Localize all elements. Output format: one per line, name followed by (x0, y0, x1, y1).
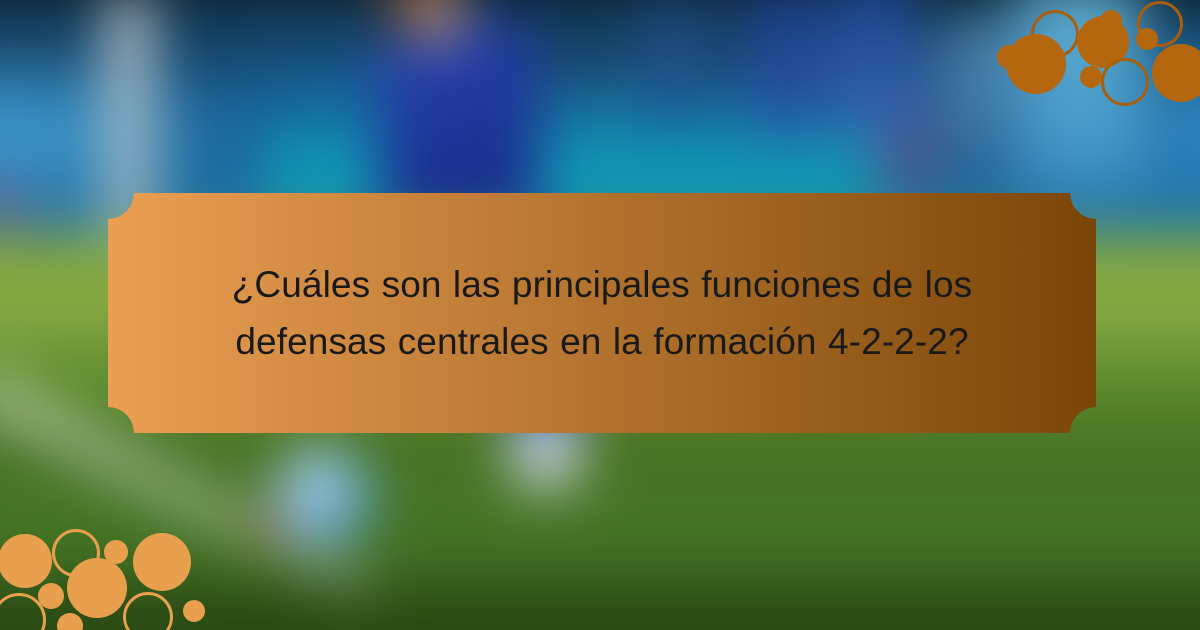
question-card: ¿Cuáles son las principales funciones de… (108, 193, 1096, 433)
question-text: ¿Cuáles son las principales funciones de… (204, 256, 1000, 371)
decorative-circle (183, 600, 205, 622)
decorative-circle (0, 534, 52, 588)
decorative-circle (57, 613, 83, 630)
decorative-circle (67, 558, 127, 618)
decorative-circle (133, 533, 191, 591)
decorative-circle (123, 592, 173, 630)
poster-canvas: ¿Cuáles son las principales funciones de… (0, 0, 1200, 630)
